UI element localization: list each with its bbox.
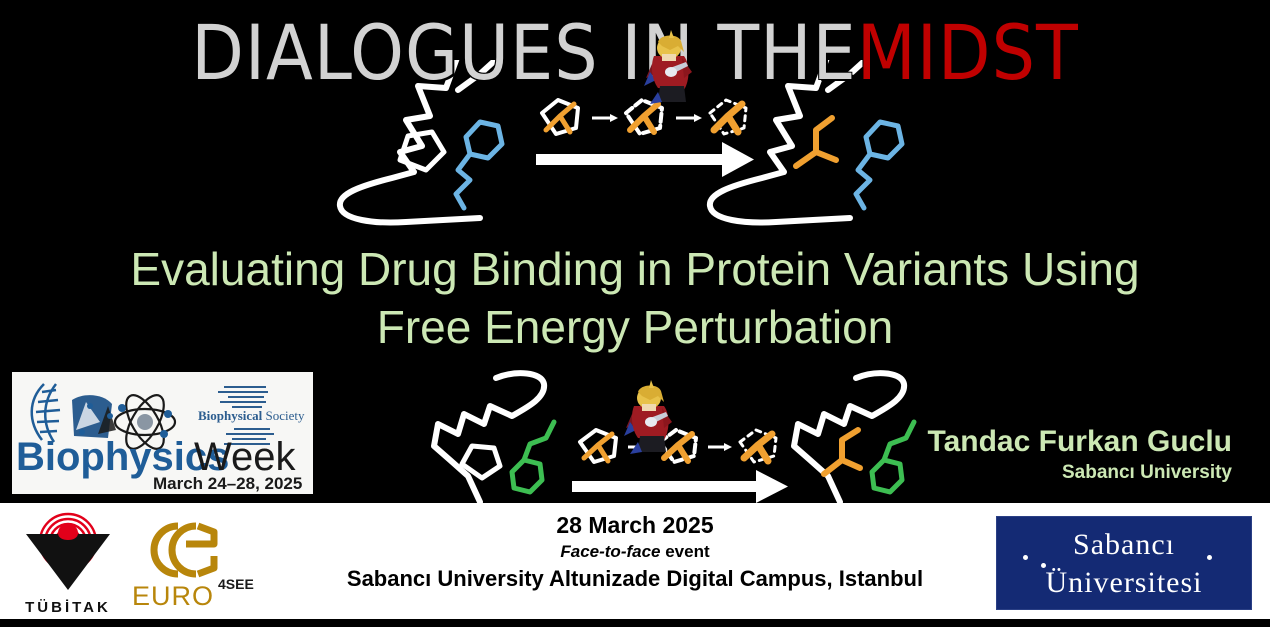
arrow-head-small-2	[694, 114, 702, 122]
conference-announcement-poster: DIALOGUES IN THEMIDST Evaluating Drug Bi…	[0, 0, 1270, 627]
bottom-molecular-scene	[420, 368, 980, 508]
transformation-arrow-lower	[572, 470, 788, 503]
alchemical-step-1-lower	[580, 430, 616, 462]
sabanci-dot-left	[1023, 555, 1028, 560]
sabanci-dot-right	[1207, 555, 1212, 560]
event-date: 28 March 2025	[300, 510, 970, 540]
session-title-line-2: Free Energy Perturbation	[0, 298, 1270, 356]
tubitak-label: TÜBİTAK	[18, 599, 118, 616]
alchemical-step-3	[710, 100, 746, 134]
event-series-title-main: DIALOGUES IN THE	[191, 8, 857, 97]
biophysical-society-text: Biophysical Society	[198, 408, 305, 423]
protein-fan-graphic	[72, 395, 116, 438]
arrow-head-small-1	[610, 114, 618, 122]
euro-4see-logo: EURO 4SEE	[130, 516, 255, 614]
bpw-dates: March 24–28, 2025	[153, 474, 302, 493]
arrow-head-small-2-lower	[724, 443, 732, 451]
speaker-affiliation: Sabancı University	[928, 460, 1233, 486]
biophysics-week-logo: Biophysical Society Biophysics Week Marc…	[10, 370, 315, 496]
footer-event-details: 28 March 2025 Face-to-face event Sabancı…	[300, 510, 970, 594]
euro-c-bar-lower	[198, 556, 214, 574]
speaker-name: Tandac Furkan Guclu	[928, 424, 1233, 460]
alchemical-step-3-lower	[740, 430, 776, 462]
event-venue: Sabancı University Altunizade Digital Ca…	[300, 564, 970, 594]
dna-helix-graphic	[32, 384, 60, 442]
anime-character-mascot-bottom	[620, 378, 680, 458]
sabanci-logo-line-1: Sabancı	[997, 517, 1251, 565]
atom-nucleus	[137, 414, 153, 430]
ligand-left-blue	[456, 122, 502, 208]
euro-double-c	[154, 526, 196, 574]
event-mode-rest: event	[661, 542, 710, 561]
sabanci-university-logo: Sabancı Üniversitesi	[996, 516, 1252, 610]
event-series-title: DIALOGUES IN THEMIDST	[0, 12, 1270, 94]
event-series-title-accent: MIDST	[857, 8, 1079, 97]
euro-label: EURO	[132, 581, 214, 612]
ligand-right-blue	[856, 122, 902, 208]
session-title-line-1: Evaluating Drug Binding in Protein Varia…	[0, 240, 1270, 298]
event-mode: Face-to-face event	[300, 540, 970, 564]
transformation-arrow	[536, 142, 754, 177]
sabanci-dot-left2	[1041, 563, 1046, 568]
alchemical-step-1	[542, 100, 578, 134]
tubitak-logo: TÜBİTAK	[18, 512, 118, 616]
residue-mutated-right	[796, 118, 836, 166]
speaker-block: Tandac Furkan Guclu Sabancı University	[928, 424, 1233, 486]
ligand-left-green	[512, 422, 554, 492]
ligand-right-green	[872, 422, 914, 492]
euro-superscript: 4SEE	[218, 576, 254, 592]
residue-mutated-right-lower	[824, 430, 860, 474]
session-title: Evaluating Drug Binding in Protein Varia…	[0, 240, 1270, 356]
protein-backbone-left-lower	[434, 373, 544, 502]
anime-character-mascot-top	[640, 28, 700, 108]
footer-bottom-rule	[0, 619, 1270, 627]
event-mode-italic: Face-to-face	[560, 542, 660, 561]
sabanci-logo-line-2: Üniversitesi	[997, 565, 1251, 601]
tubitak-triangle	[26, 534, 110, 590]
bpw-word-secondary: Week	[194, 435, 297, 479]
